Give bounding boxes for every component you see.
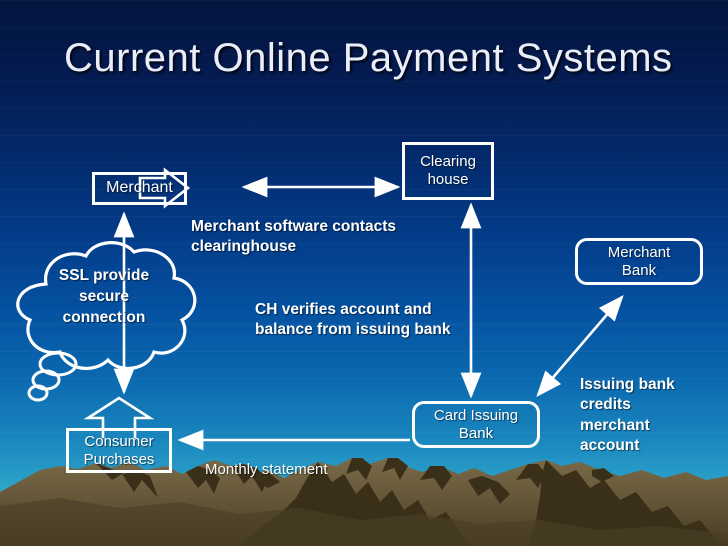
node-card-issuing-bank-label: Card Issuing Bank bbox=[434, 407, 518, 442]
node-consumer-purchases[interactable]: Consumer Purchases bbox=[66, 428, 172, 473]
node-card-issuing-bank-line-1: Card Issuing bbox=[434, 407, 518, 424]
ssl-cloud-line-2: secure bbox=[24, 287, 184, 308]
slide-title: Current Online Payment Systems bbox=[64, 36, 684, 81]
node-card-issuing-bank-line-2: Bank bbox=[459, 425, 493, 442]
ssl-thought-cloud: SSL provide secure connection bbox=[2, 232, 210, 404]
node-merchant-bank-line-2: Bank bbox=[622, 262, 656, 279]
node-clearing-house-label: Clearing house bbox=[420, 153, 476, 188]
node-merchant-bank-line-1: Merchant bbox=[608, 244, 671, 261]
node-merchant-bank[interactable]: Merchant Bank bbox=[575, 238, 703, 285]
annotation-merchant-software: Merchant software contacts clearinghouse bbox=[191, 217, 436, 258]
node-consumer-purchases-line-1: Consumer bbox=[84, 433, 153, 450]
annotation-ch-verifies: CH verifies account and balance from iss… bbox=[255, 300, 480, 341]
ssl-cloud-text: SSL provide secure connection bbox=[24, 266, 184, 329]
node-clearing-house-line-1: Clearing bbox=[420, 153, 476, 170]
node-clearing-house[interactable]: Clearing house bbox=[402, 142, 494, 200]
node-card-issuing-bank[interactable]: Card Issuing Bank bbox=[412, 401, 540, 448]
ssl-cloud-line-1: SSL provide bbox=[24, 266, 184, 287]
annotation-issuing-bank-credits: Issuing bank credits merchant account bbox=[580, 375, 700, 457]
node-merchant[interactable]: Merchant bbox=[92, 172, 187, 205]
node-merchant-bank-label: Merchant Bank bbox=[608, 244, 671, 279]
node-merchant-label: Merchant bbox=[106, 179, 173, 198]
node-consumer-purchases-label: Consumer Purchases bbox=[84, 433, 155, 468]
slide-canvas: SSL provide secure connection Current On… bbox=[0, 0, 728, 546]
ssl-cloud-line-3: connection bbox=[24, 308, 184, 329]
node-consumer-purchases-line-2: Purchases bbox=[84, 451, 155, 468]
node-clearing-house-line-2: house bbox=[428, 171, 469, 188]
annotation-monthly-statement: Monthly statement bbox=[205, 461, 328, 478]
